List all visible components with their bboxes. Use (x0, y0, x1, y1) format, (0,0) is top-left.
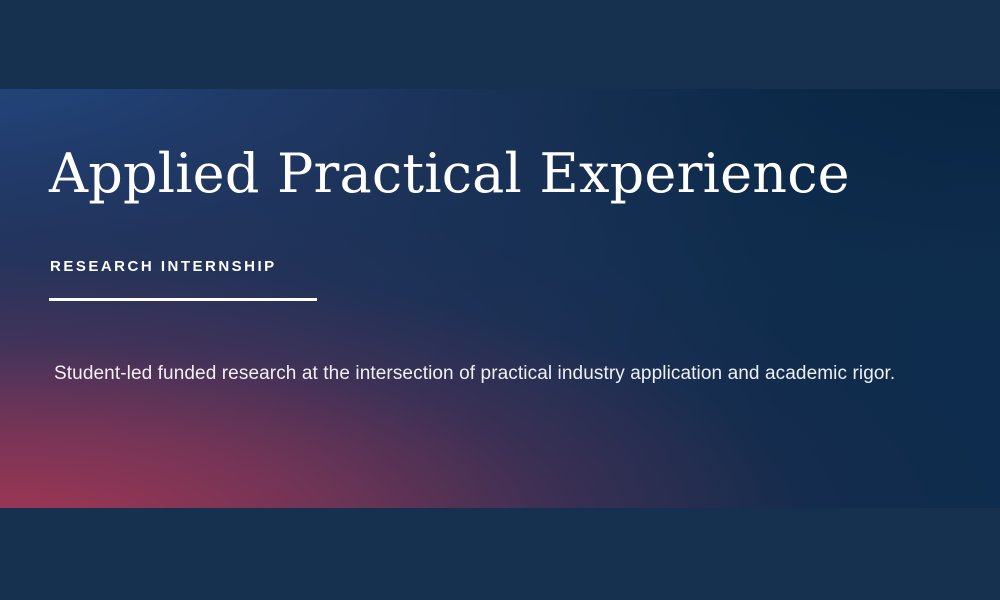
hero-description: Student-led funded research at the inter… (54, 357, 954, 391)
hero-content: Applied Practical Experience RESEARCH IN… (49, 89, 969, 508)
hero-banner: Applied Practical Experience RESEARCH IN… (0, 89, 1000, 508)
bottom-navy-band (0, 508, 1000, 600)
page-title: Applied Practical Experience (49, 142, 850, 206)
hero-divider-rule (49, 298, 317, 301)
hero-eyebrow-label: RESEARCH INTERNSHIP (50, 258, 277, 276)
top-navy-band (0, 0, 1000, 89)
page-root: Applied Practical Experience RESEARCH IN… (0, 0, 1000, 600)
